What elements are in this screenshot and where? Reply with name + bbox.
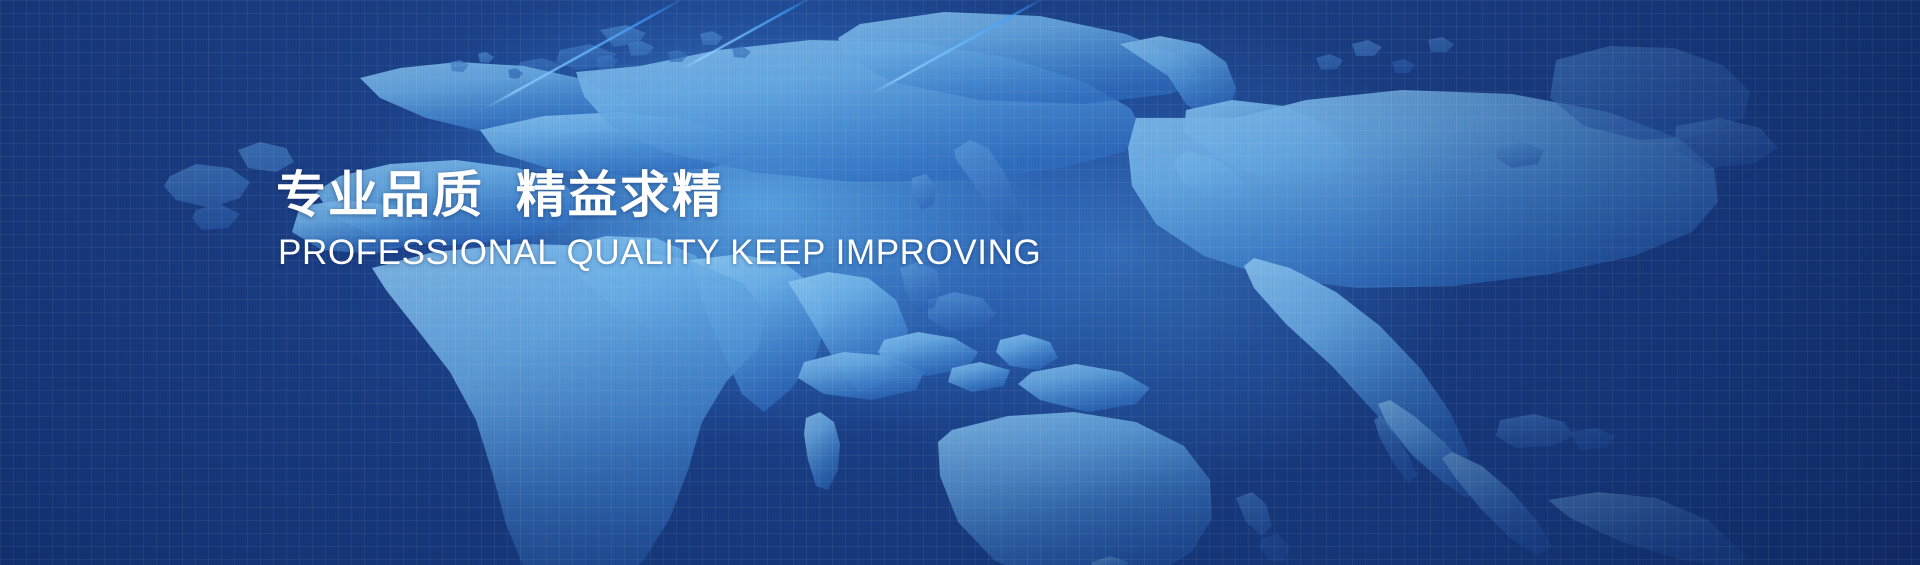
hero-banner: 专业品质 精益求精 PROFESSIONAL QUALITY KEEP IMPR… [0, 0, 1920, 565]
banner-copy: 专业品质 精益求精 PROFESSIONAL QUALITY KEEP IMPR… [276, 166, 1041, 273]
grid-mesh-fine-overlay [0, 0, 1920, 565]
headline-english: PROFESSIONAL QUALITY KEEP IMPROVING [278, 233, 1041, 273]
headline-chinese: 专业品质 精益求精 [276, 166, 1041, 225]
